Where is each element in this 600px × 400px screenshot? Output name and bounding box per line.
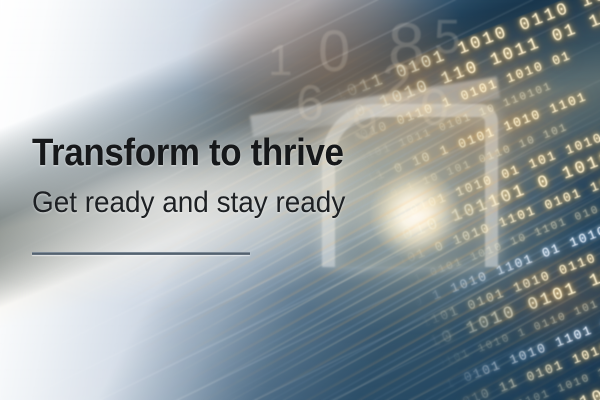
divider: [32, 252, 250, 255]
ghost-digit: 6: [296, 74, 324, 132]
page-title: Transform to thrive: [32, 132, 308, 174]
hero-copy: Transform to thrive Get ready and stay r…: [32, 132, 332, 255]
ghost-digit: 1: [268, 36, 292, 86]
page-subtitle: Get ready and stay ready: [32, 186, 311, 220]
hero-banner: 0 8 2 5 6 1 9 0 1011 0101 1010 0110 1001…: [0, 0, 600, 400]
